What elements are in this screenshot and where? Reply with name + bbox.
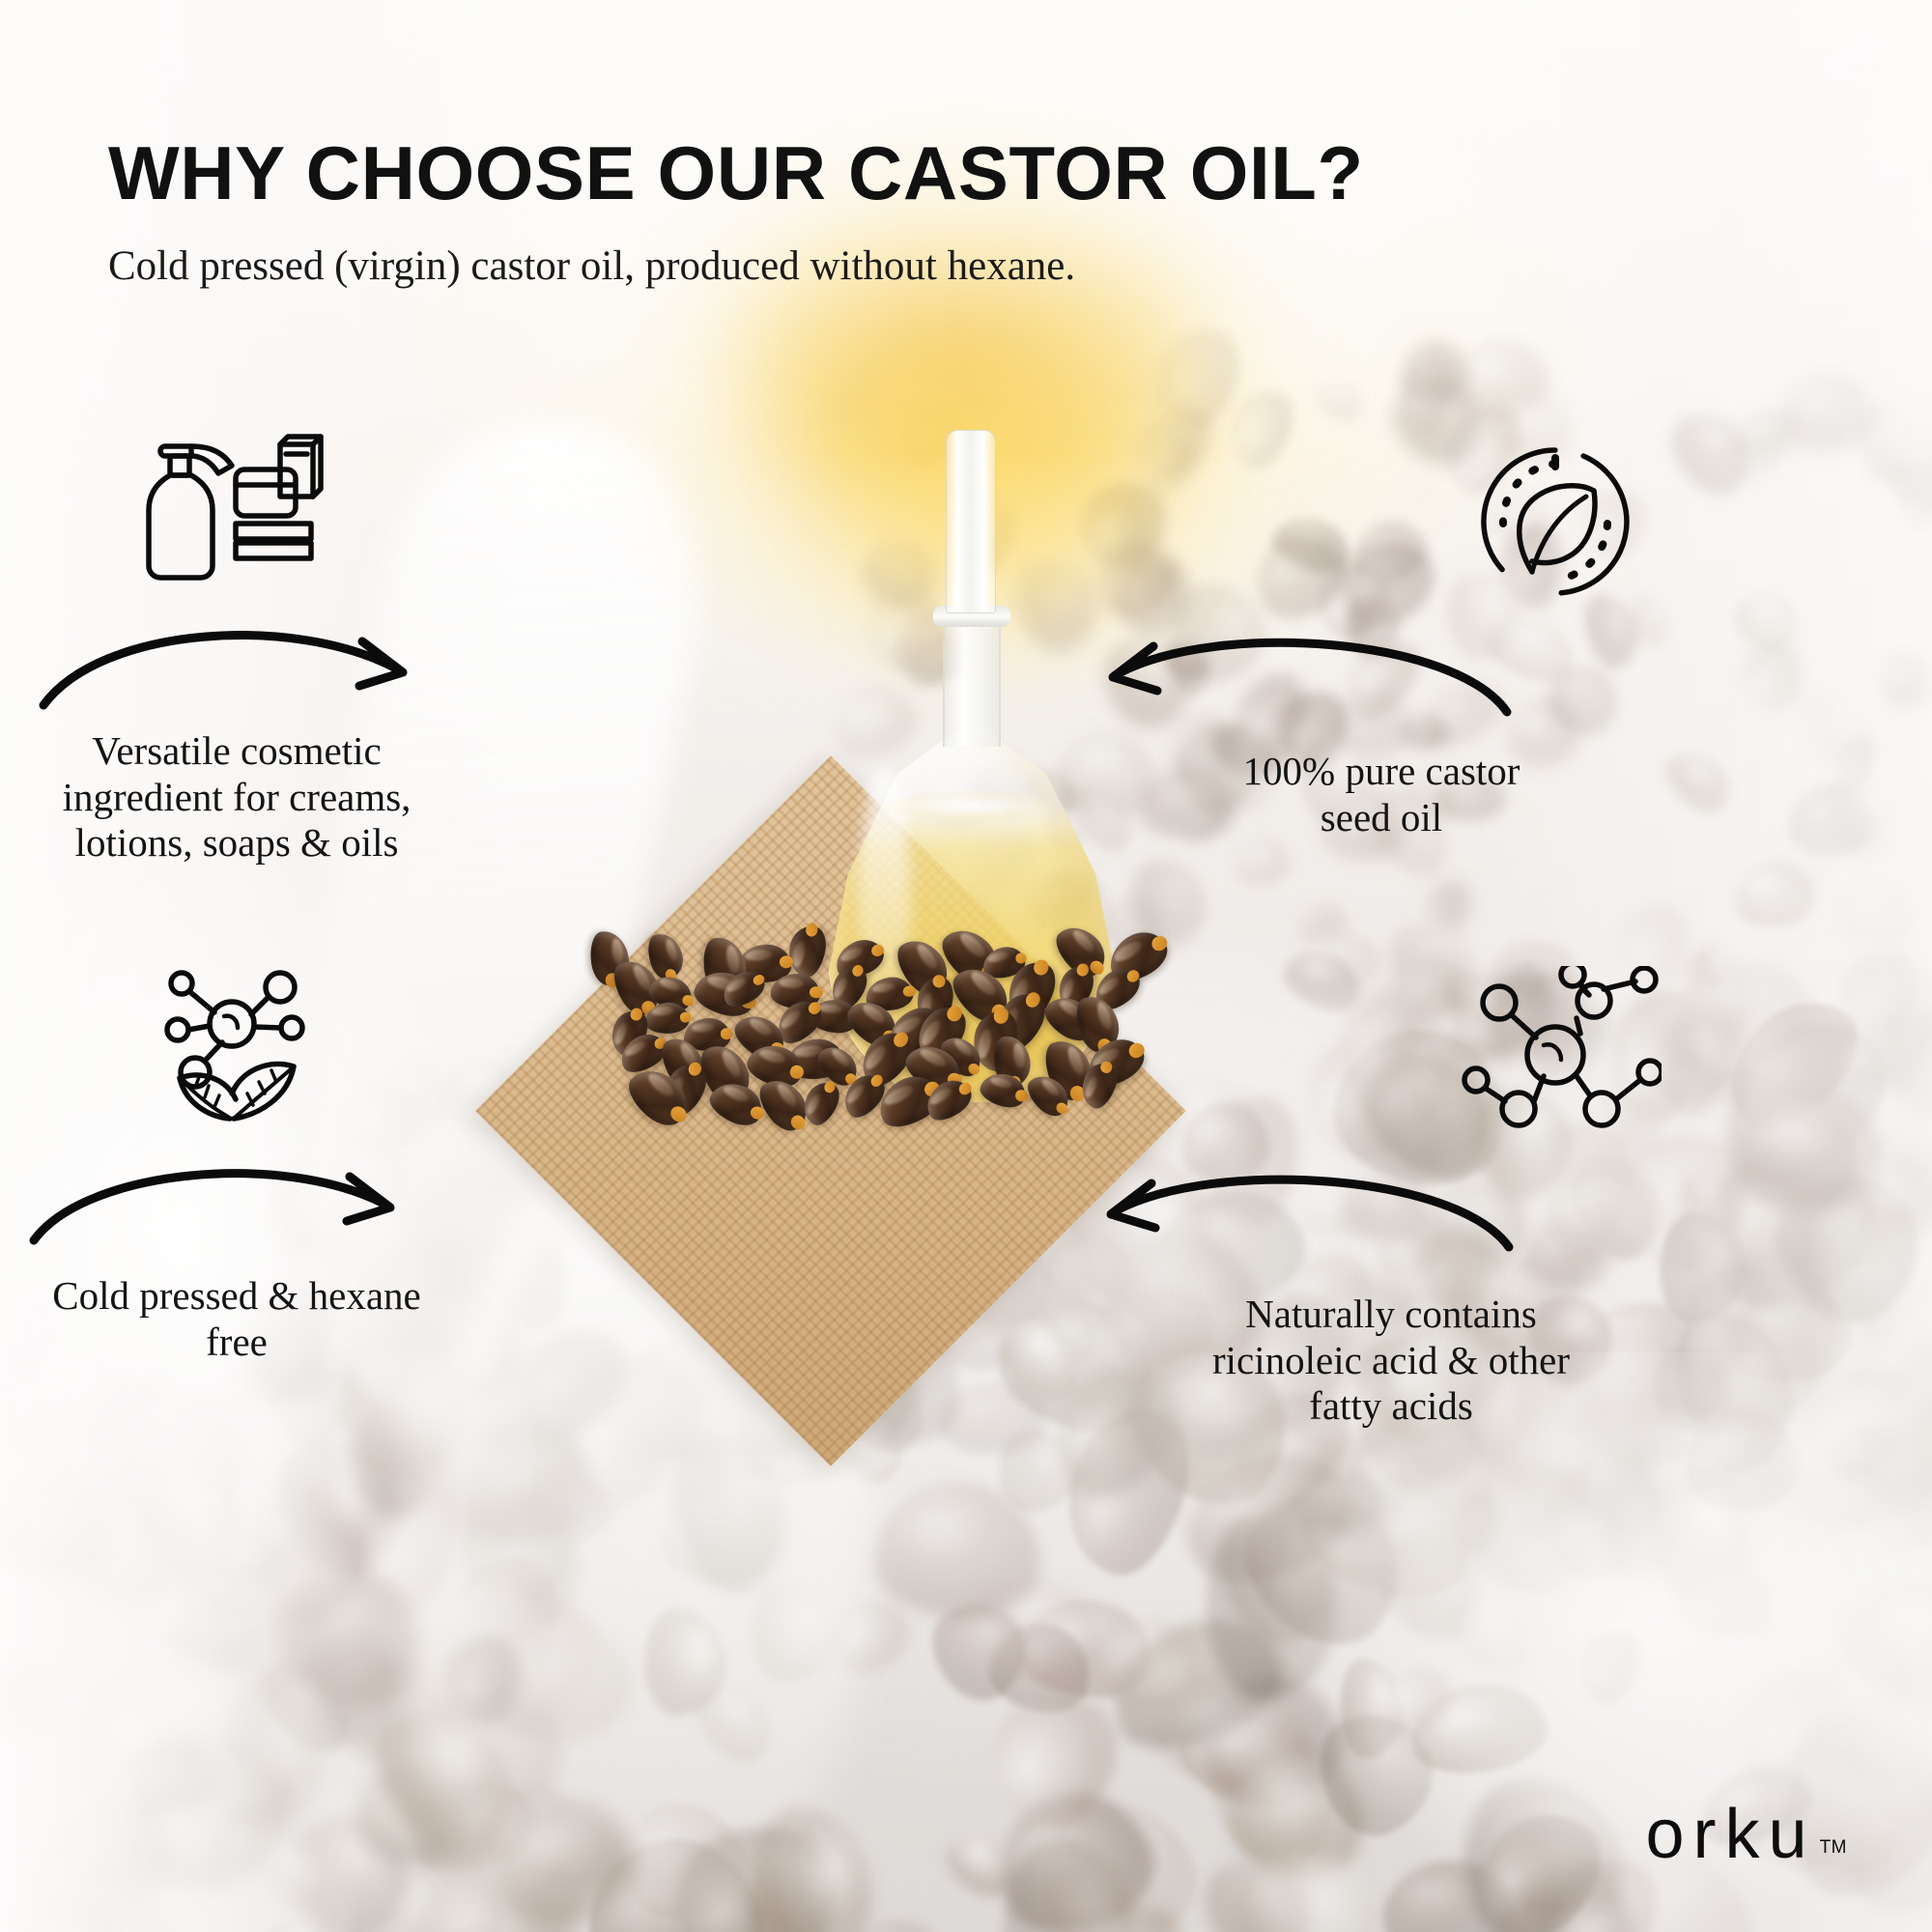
feature-versatile-cosmetic: Versatile cosmetic ingredient for creams… <box>10 425 464 867</box>
castor-seeds <box>575 923 1135 1130</box>
curved-arrow-left-icon <box>1072 619 1903 735</box>
bottle-oil-surface <box>874 789 1067 822</box>
feature-text-pure-seed-oil: 100% pure castor seed oil <box>1111 749 1652 840</box>
header: WHY CHOOSE OUR CASTOR OIL? Cold pressed … <box>108 135 1557 290</box>
bottle-cap <box>946 430 996 613</box>
poster-canvas: WHY CHOOSE OUR CASTOR OIL? Cold pressed … <box>0 0 1932 1932</box>
feature-text-versatile: Versatile cosmetic ingredient for creams… <box>10 728 464 867</box>
feature-cold-pressed: Cold pressed & hexane free <box>10 966 464 1365</box>
cosmetic-bottle-icon <box>135 425 464 599</box>
curved-arrow-left-icon <box>1072 1158 1903 1274</box>
castor-seed <box>784 923 830 980</box>
leaf-circle-icon <box>1478 444 1903 604</box>
molecule-leaf-icon <box>145 966 464 1130</box>
feature-text-ricinoleic: Naturally contains ricinoleic acid & oth… <box>1101 1292 1681 1430</box>
curved-arrow-right-icon <box>24 1148 464 1254</box>
curved-arrow-right-icon <box>34 609 464 715</box>
molecule-icon <box>1459 966 1903 1145</box>
feature-ricinoleic-acid: Naturally contains ricinoleic acid & oth… <box>1072 966 1903 1430</box>
trademark-symbol: TM <box>1820 1837 1847 1859</box>
feature-text-cold-pressed: Cold pressed & hexane free <box>10 1273 464 1365</box>
bottle-neck <box>943 621 1001 747</box>
brand-name: orku <box>1646 1803 1816 1866</box>
page-subtitle: Cold pressed (virgin) castor oil, produc… <box>108 243 1557 290</box>
page-title: WHY CHOOSE OUR CASTOR OIL? <box>108 135 1557 211</box>
feature-pure-seed-oil: 100% pure castor seed oil <box>1072 444 1903 840</box>
brand-logo: orku TM <box>1646 1803 1848 1866</box>
